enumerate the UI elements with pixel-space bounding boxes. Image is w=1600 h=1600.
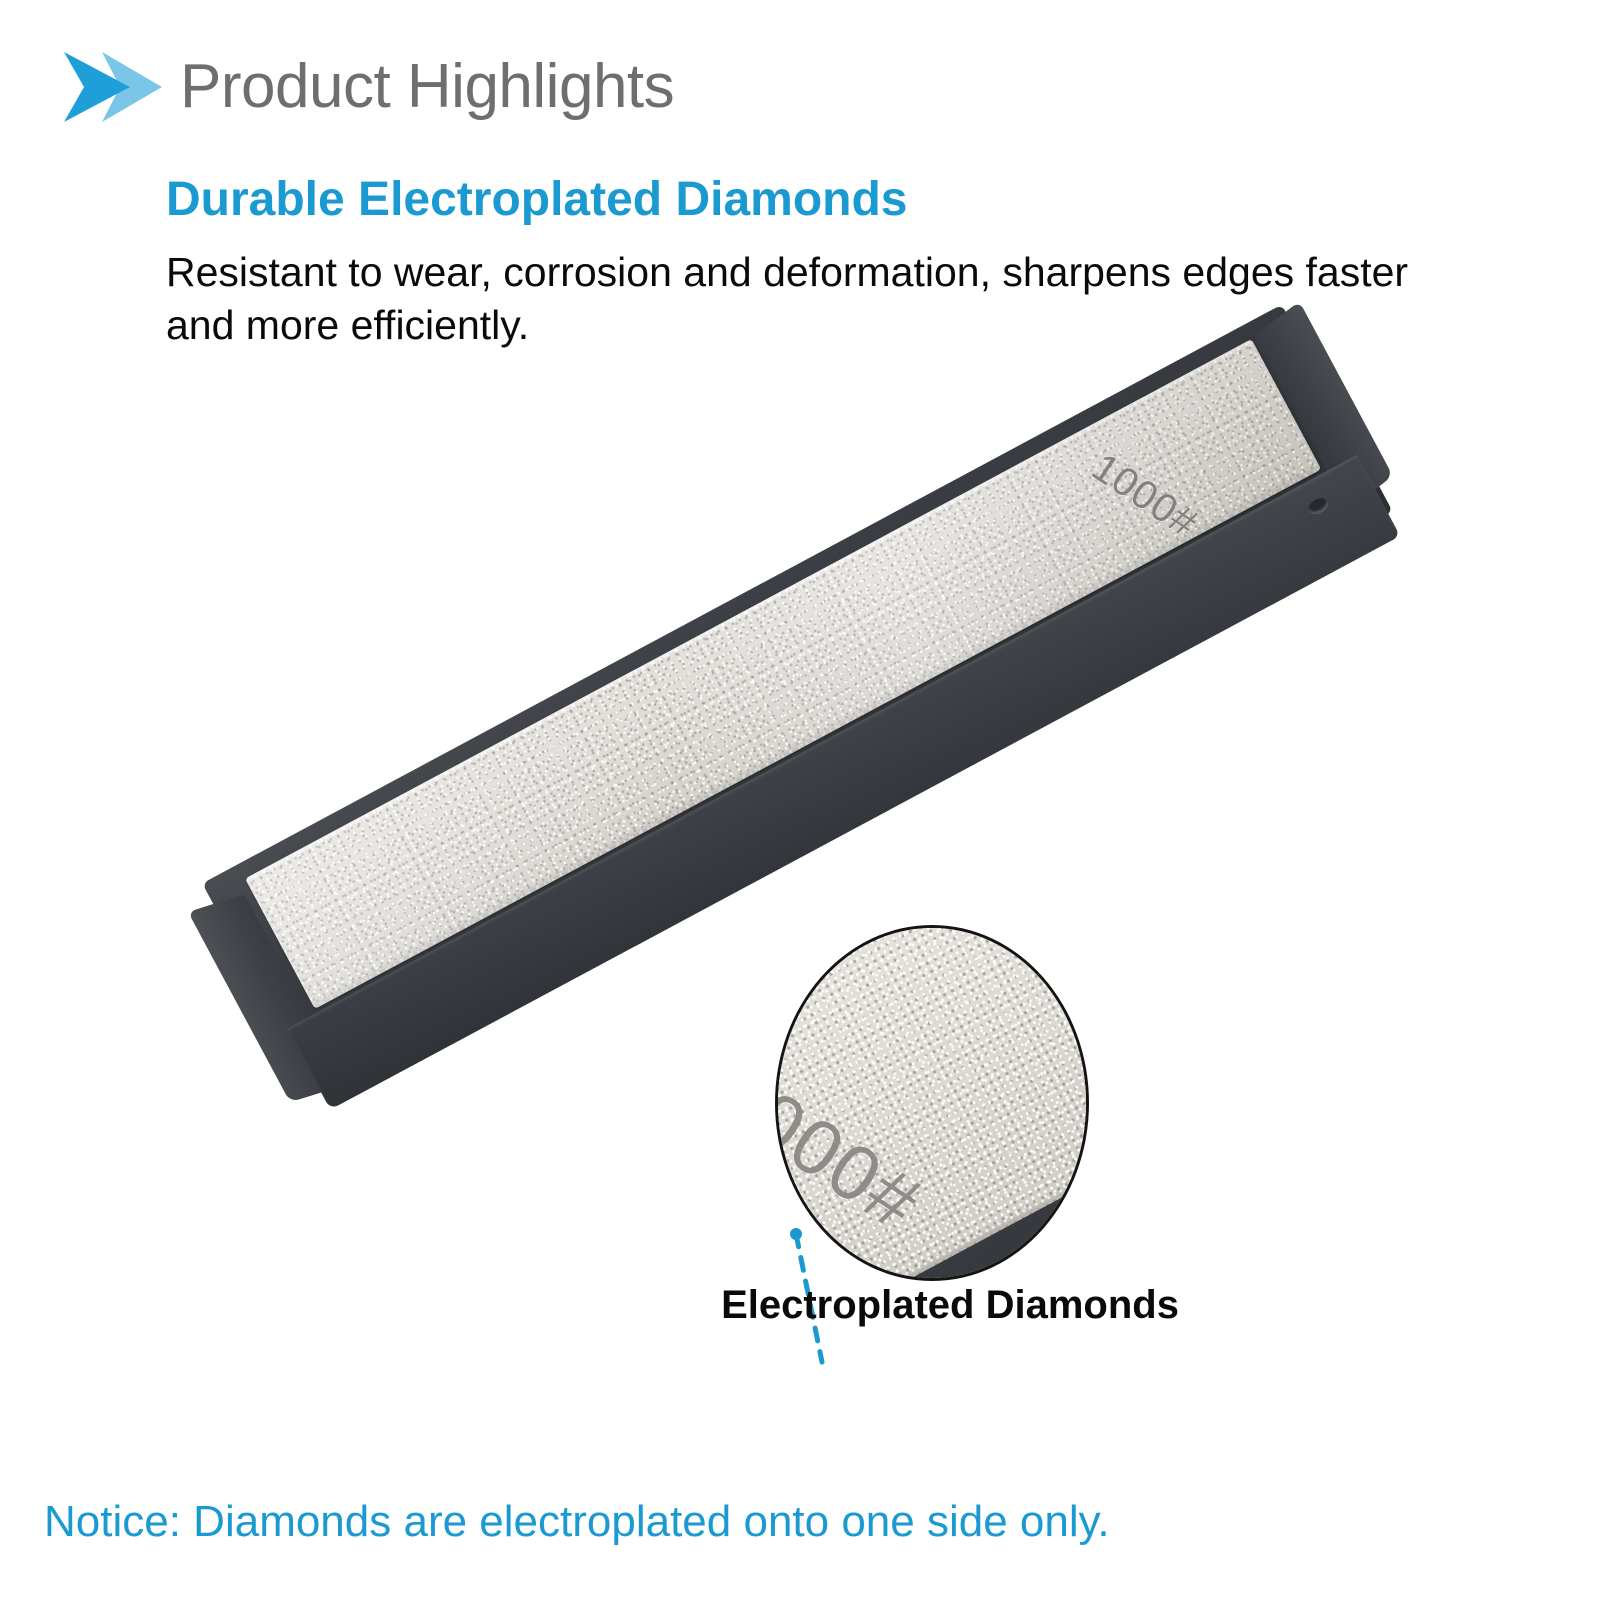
double-chevron-right-icon	[58, 46, 166, 128]
notice-text: Notice: Diamonds are electroplated onto …	[44, 1500, 1110, 1544]
magnified-detail-circle: 1000#	[775, 925, 1089, 1281]
page-header: Product Highlights	[58, 46, 674, 128]
plate-sheen	[245, 339, 1321, 1009]
magnified-stone-corner: 1000#	[775, 925, 1089, 1281]
product-photo: 1000# 1000#	[0, 380, 1600, 1360]
callout-caption: Electroplated Diamonds	[700, 1285, 1200, 1325]
page-title: Product Highlights	[180, 56, 674, 118]
grit-marking: 1000#	[1084, 445, 1206, 547]
diamond-plate-surface: 1000#	[245, 339, 1321, 1009]
feature-heading: Durable Electroplated Diamonds	[166, 176, 908, 224]
